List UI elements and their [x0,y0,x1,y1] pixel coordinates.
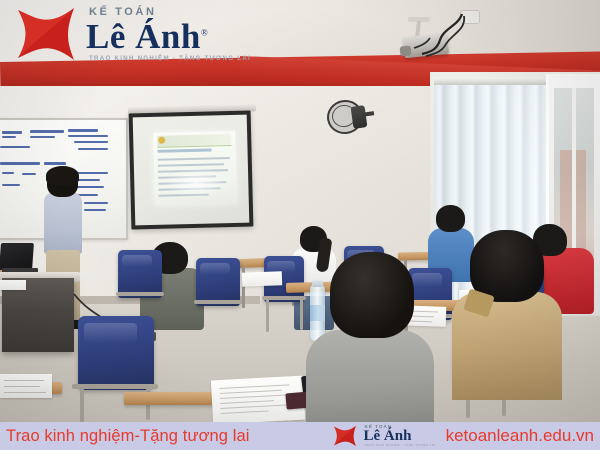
leanh-logo-icon-small [330,425,360,447]
footer-brand-text: KẾ TOÁN Lê Ánh TRAO KINH NGHIỆM - TẶNG T… [364,425,436,447]
leanh-logo-icon [14,6,78,62]
registered-mark: ® [201,28,208,38]
brand-logo-text: KẾ TOÁN Lê Ánh® TRAO KINH NGHIỆM - TẶNG … [86,5,251,62]
brand-name-text: Lê Ánh [86,17,201,56]
classroom-photo [0,0,600,450]
brand-tagline: TRAO KINH NGHIỆM - TẶNG TƯƠNG LAI [89,56,251,62]
footer-slogan: Trao kinh nghiệm-Tặng tương lai [6,427,250,446]
footer-website[interactable]: ketoanleanh.edu.vn [446,426,594,446]
footer-brand-group: KẾ TOÁN Lê Ánh TRAO KINH NGHIỆM - TẶNG T… [330,422,595,450]
footer-bar: Trao kinh nghiệm-Tặng tương lai KẾ TOÁN … [0,422,600,450]
footer-brand-tagline: TRAO KINH NGHIỆM - TẶNG TƯƠNG LAI [365,444,436,447]
brand-name: Lê Ánh® [86,19,251,54]
banner-image: KẾ TOÁN Lê Ánh® TRAO KINH NGHIỆM - TẶNG … [0,0,600,450]
brand-logo: KẾ TOÁN Lê Ánh® TRAO KINH NGHIỆM - TẶNG … [14,2,251,66]
photo-vignette [0,0,600,450]
